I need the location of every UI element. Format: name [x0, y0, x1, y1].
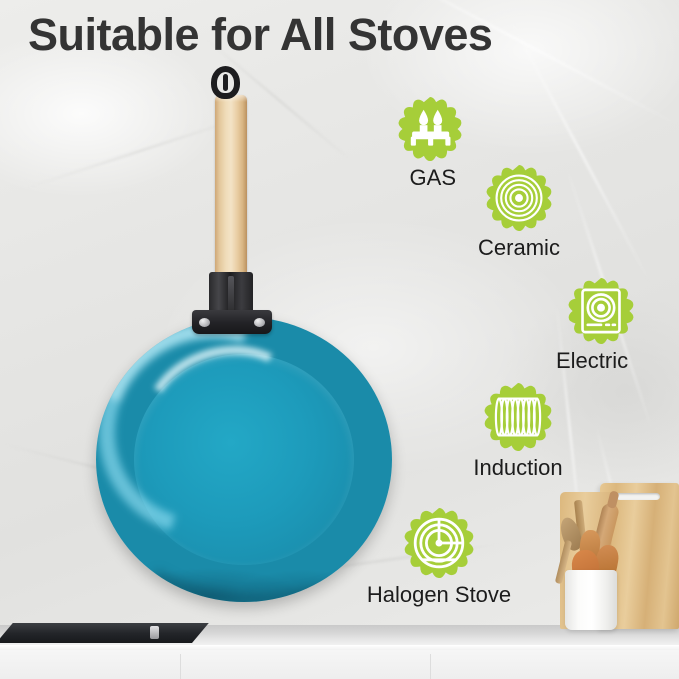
stove-badge-induction: Induction: [484, 383, 552, 451]
ceramic-rings-icon: [486, 165, 552, 231]
electric-cooktop-icon: [568, 278, 634, 344]
stove-badge-label-ceramic: Ceramic: [478, 235, 560, 261]
cooktop-control: [150, 626, 159, 639]
cabinet-seam: [430, 654, 431, 679]
induction-coil-icon: [484, 383, 552, 451]
stove-badge-label-electric: Electric: [556, 348, 628, 374]
stove-badge-gas: GAS: [398, 97, 462, 161]
stove-badge-label-induction: Induction: [473, 455, 562, 481]
gas-burner-icon: [398, 97, 462, 161]
wooden-handle: [215, 95, 247, 280]
pan-body: [96, 317, 392, 602]
stove-badge-label-halogen: Halogen Stove: [367, 582, 511, 608]
utensil-crock: [565, 570, 617, 630]
bracket-rivet: [199, 318, 210, 327]
bracket-rivet: [254, 318, 265, 327]
stove-badge-electric: Electric: [568, 278, 634, 344]
glass-cooktop: [0, 623, 209, 643]
product-feature-image: Suitable for All Stoves: [0, 0, 679, 679]
stove-badge-ceramic: Ceramic: [486, 165, 552, 231]
cutting-board-handle-hole: [616, 493, 660, 500]
handle-bracket: [192, 310, 272, 334]
cabinet-fronts: [0, 650, 679, 679]
pan-bottom-shading: [96, 471, 392, 602]
stove-badge-label-gas: GAS: [410, 165, 456, 191]
halogen-radial-icon: [404, 508, 474, 578]
hanging-ring-icon: [211, 66, 240, 99]
cabinet-seam: [180, 654, 181, 679]
stove-badge-halogen: Halogen Stove: [404, 508, 474, 578]
